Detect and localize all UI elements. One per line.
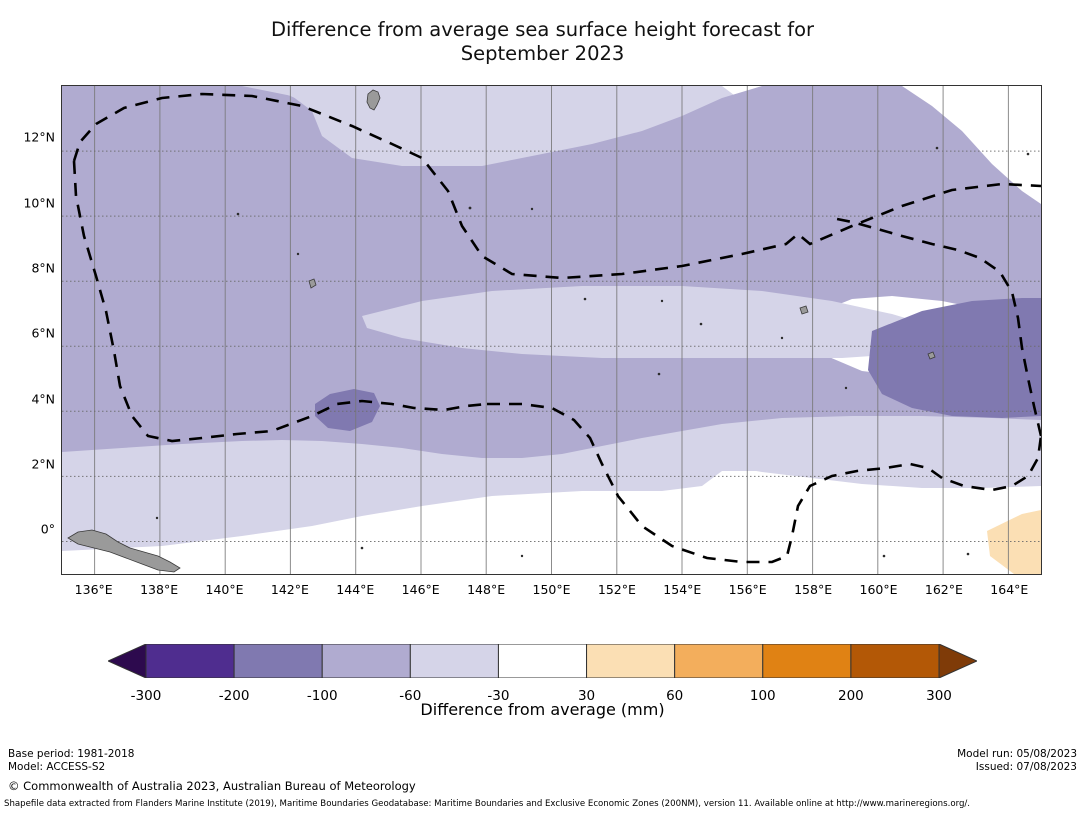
x-tick-label: 136°E bbox=[75, 582, 113, 597]
x-axis-labels: 136°E138°E140°E142°E144°E146°E148°E150°E… bbox=[61, 582, 1042, 602]
x-tick-label: 148°E bbox=[467, 582, 505, 597]
x-tick-label: 150°E bbox=[532, 582, 570, 597]
island-small-b bbox=[800, 306, 808, 314]
map-plot-area[interactable] bbox=[61, 85, 1042, 575]
colorbar-segment[interactable] bbox=[146, 644, 234, 678]
x-tick-label: 152°E bbox=[598, 582, 636, 597]
x-tick-label: 156°E bbox=[729, 582, 767, 597]
y-axis-labels: 12°N10°N8°N6°N4°N2°N0° bbox=[0, 85, 55, 575]
x-tick-label: 154°E bbox=[663, 582, 701, 597]
colorbar-extend-high bbox=[939, 644, 977, 678]
y-tick-label: 2°N bbox=[7, 456, 55, 471]
colorbar-segment[interactable] bbox=[763, 644, 851, 678]
x-tick-label: 158°E bbox=[794, 582, 832, 597]
y-tick-label: 12°N bbox=[7, 130, 55, 145]
y-tick-label: 4°N bbox=[7, 391, 55, 406]
colorbar-swatches[interactable]: -300-200-100-60-303060100200300 bbox=[108, 644, 977, 678]
page-title-line2: September 2023 bbox=[0, 42, 1085, 66]
y-tick-label: 8°N bbox=[7, 260, 55, 275]
base-period-text: Base period: 1981-2018 bbox=[8, 748, 416, 761]
x-tick-label: 146°E bbox=[402, 582, 440, 597]
colorbar-svg bbox=[108, 644, 977, 678]
y-tick-label: 6°N bbox=[7, 326, 55, 341]
colorbar-extend-low bbox=[108, 644, 146, 678]
x-tick-label: 144°E bbox=[336, 582, 374, 597]
colorbar-segment[interactable] bbox=[851, 644, 939, 678]
x-tick-label: 160°E bbox=[859, 582, 897, 597]
y-tick-label: 0° bbox=[7, 522, 55, 537]
colorbar-segment[interactable] bbox=[234, 644, 322, 678]
copyright-text: © Commonwealth of Australia 2023, Austra… bbox=[8, 780, 416, 793]
attribution-text: Shapefile data extracted from Flanders M… bbox=[4, 799, 1081, 809]
issued-text: Issued: 07/08/2023 bbox=[957, 761, 1077, 774]
y-tick-label: 10°N bbox=[7, 195, 55, 210]
colorbar-title: Difference from average (mm) bbox=[0, 700, 1085, 719]
x-tick-label: 140°E bbox=[205, 582, 243, 597]
page-title: Difference from average sea surface heig… bbox=[0, 18, 1085, 66]
x-tick-label: 164°E bbox=[990, 582, 1028, 597]
model-text: Model: ACCESS-S2 bbox=[8, 761, 416, 774]
page-title-line1: Difference from average sea surface heig… bbox=[0, 18, 1085, 42]
footer-right: Model run: 05/08/2023 Issued: 07/08/2023 bbox=[957, 748, 1077, 774]
colorbar-segment[interactable] bbox=[675, 644, 763, 678]
footer-left: Base period: 1981-2018 Model: ACCESS-S2 … bbox=[8, 748, 416, 793]
colorbar-segment[interactable] bbox=[498, 644, 586, 678]
x-tick-label: 142°E bbox=[271, 582, 309, 597]
colorbar-segment[interactable] bbox=[322, 644, 410, 678]
colorbar[interactable]: -300-200-100-60-303060100200300 Differen… bbox=[0, 636, 1085, 736]
colorbar-segment[interactable] bbox=[587, 644, 675, 678]
model-run-text: Model run: 05/08/2023 bbox=[957, 748, 1077, 761]
x-tick-label: 162°E bbox=[925, 582, 963, 597]
x-tick-label: 138°E bbox=[140, 582, 178, 597]
sea-surface-height-anomaly-map bbox=[62, 86, 1041, 574]
colorbar-segment[interactable] bbox=[410, 644, 498, 678]
